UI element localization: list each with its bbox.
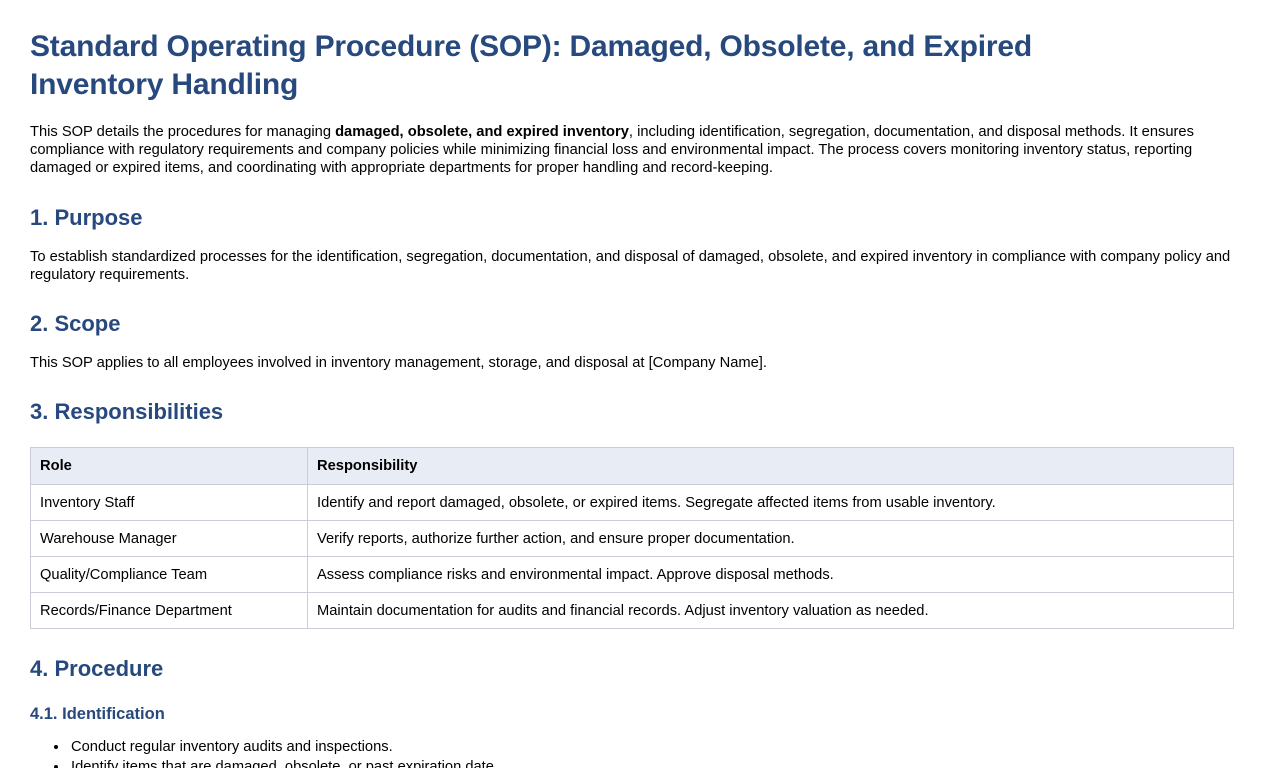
intro-text-part1: This SOP details the procedures for mana…	[30, 124, 335, 140]
intro-paragraph: This SOP details the procedures for mana…	[30, 104, 1233, 178]
intro-emphasis: damaged, obsolete, and expired inventory	[335, 124, 629, 140]
cell-role: Warehouse Manager	[31, 521, 308, 557]
cell-role: Quality/Compliance Team	[31, 557, 308, 593]
cell-responsibility: Maintain documentation for audits and fi…	[308, 593, 1234, 629]
cell-responsibility: Assess compliance risks and environmenta…	[308, 557, 1234, 593]
cell-responsibility: Identify and report damaged, obsolete, o…	[308, 485, 1234, 521]
column-header-role: Role	[31, 448, 308, 485]
section-heading-scope: 2. Scope	[30, 284, 1233, 337]
identification-bullet-list: Conduct regular inventory audits and ins…	[30, 724, 1233, 768]
cell-responsibility: Verify reports, authorize further action…	[308, 521, 1234, 557]
section-heading-procedure: 4. Procedure	[30, 629, 1233, 682]
cell-role: Records/Finance Department	[31, 593, 308, 629]
responsibilities-table: Role Responsibility Inventory Staff Iden…	[30, 447, 1234, 629]
scope-body: This SOP applies to all employees involv…	[30, 337, 1233, 372]
table-row: Inventory Staff Identify and report dama…	[31, 485, 1234, 521]
document-page: Standard Operating Procedure (SOP): Dama…	[0, 0, 1263, 768]
subsection-heading-identification: 4.1. Identification	[30, 682, 1233, 724]
column-header-responsibility: Responsibility	[308, 448, 1234, 485]
list-item: Conduct regular inventory audits and ins…	[69, 738, 1233, 758]
page-title: Standard Operating Procedure (SOP): Dama…	[30, 0, 1150, 104]
table-row: Quality/Compliance Team Assess complianc…	[31, 557, 1234, 593]
purpose-body: To establish standardized processes for …	[30, 231, 1233, 284]
list-item: Identify items that are damaged, obsolet…	[69, 758, 1233, 768]
table-row: Warehouse Manager Verify reports, author…	[31, 521, 1234, 557]
section-heading-responsibilities: 3. Responsibilities	[30, 372, 1233, 425]
table-row: Records/Finance Department Maintain docu…	[31, 593, 1234, 629]
section-heading-purpose: 1. Purpose	[30, 178, 1233, 231]
cell-role: Inventory Staff	[31, 485, 308, 521]
table-header-row: Role Responsibility	[31, 448, 1234, 485]
